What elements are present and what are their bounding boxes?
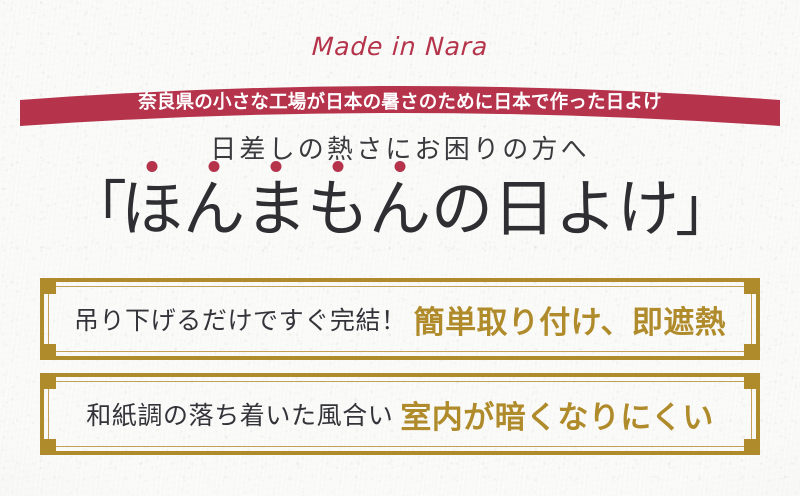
headline-open-bracket: 「 bbox=[67, 175, 125, 245]
headline-char-plain: け bbox=[617, 176, 679, 241]
bouten-dot bbox=[146, 161, 157, 172]
headline-char-emphasized: ほ bbox=[121, 176, 183, 241]
made-in-nara-label: Made in Nara bbox=[0, 32, 800, 61]
feature-box-2-accent: 室内が暗くなりにくい bbox=[400, 392, 713, 437]
headline-emphasized-text: ほんまもん bbox=[121, 176, 431, 241]
feature-box-1-text: 吊り下げるだけですぐ完結！ 簡単取り付け、即遮熱 bbox=[40, 278, 760, 360]
headline-char-plain: よ bbox=[555, 176, 617, 241]
feature-box-1: 吊り下げるだけですぐ完結！ 簡単取り付け、即遮熱 bbox=[40, 278, 760, 360]
ribbon-text-layer: 奈良県の小さな工場が日本の暑さのために日本で作った日よけ bbox=[0, 70, 800, 126]
headline-char-plain: 日 bbox=[493, 176, 555, 241]
bouten-dot bbox=[394, 161, 405, 172]
headline-close-bracket: 」 bbox=[675, 175, 733, 245]
main-headline: 「ほんまもんの日よけ」 bbox=[0, 176, 800, 241]
bouten-dot bbox=[270, 161, 281, 172]
feature-box-1-accent: 簡単取り付け、即遮熱 bbox=[414, 297, 726, 342]
headline-char-plain: の bbox=[431, 176, 493, 241]
feature-box-2-lead: 和紙調の落ち着いた風合い bbox=[86, 396, 393, 432]
headline-char-emphasized: ん bbox=[183, 176, 245, 241]
bouten-dot bbox=[332, 161, 343, 172]
ribbon-tagline-text: 奈良県の小さな工場が日本の暑さのために日本で作った日よけ bbox=[0, 88, 800, 114]
headline-char-emphasized: も bbox=[307, 176, 369, 241]
tagline-ribbon: 奈良県の小さな工場が日本の暑さのために日本で作った日よけ bbox=[0, 70, 800, 126]
feature-box-1-lead: 吊り下げるだけですぐ完結！ bbox=[74, 301, 407, 337]
headline-char-emphasized: ん bbox=[369, 176, 431, 241]
feature-box-2-text: 和紙調の落ち着いた風合い 室内が暗くなりにくい bbox=[40, 373, 760, 455]
feature-box-2: 和紙調の落ち着いた風合い 室内が暗くなりにくい bbox=[40, 373, 760, 455]
headline-char-emphasized: ま bbox=[245, 176, 307, 241]
bouten-dot bbox=[208, 161, 219, 172]
headline-plain-text: の日よけ bbox=[431, 176, 679, 241]
promo-banner-page: Made in Nara 奈良県の小さな工場が日本の暑さのために日本で作った日よ… bbox=[0, 0, 800, 496]
content-layer: Made in Nara 奈良県の小さな工場が日本の暑さのために日本で作った日よ… bbox=[0, 0, 800, 496]
